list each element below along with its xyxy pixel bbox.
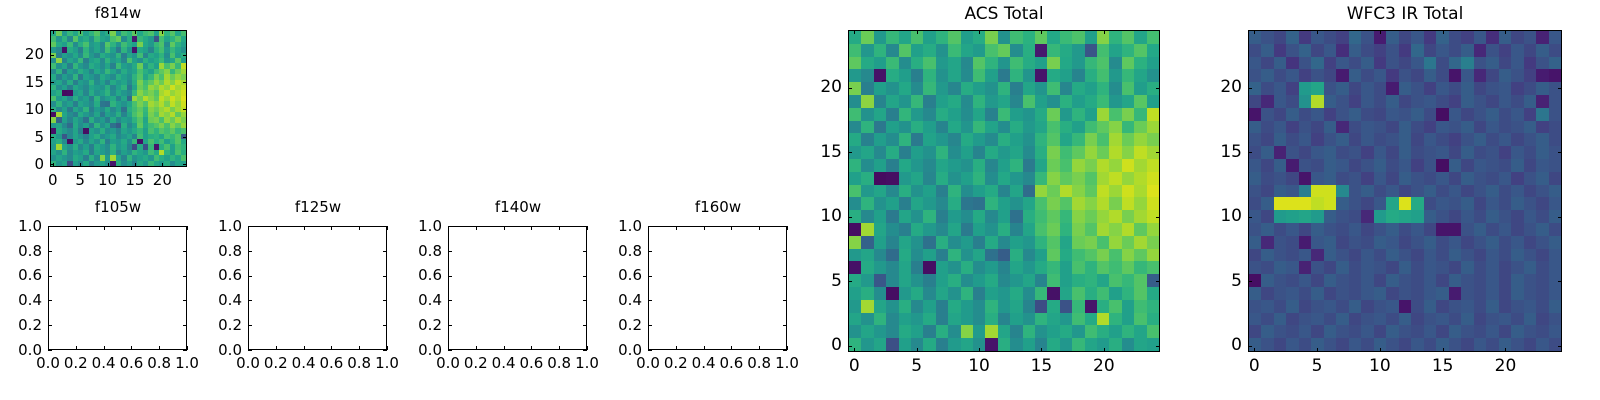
- heatmap-cell: [1349, 249, 1361, 262]
- heatmap-cell: [1436, 82, 1448, 95]
- y-tick-mark: [183, 82, 187, 83]
- heatmap-cell: [1134, 69, 1146, 82]
- heatmap-cell: [1134, 82, 1146, 95]
- heatmap-cell: [1386, 185, 1398, 198]
- axes-f160w[interactable]: [648, 226, 787, 350]
- axes-f140w[interactable]: [448, 226, 587, 350]
- heatmap-cell: [911, 300, 923, 313]
- heatmap-cell: [1524, 159, 1536, 172]
- heatmap-cell: [961, 249, 973, 262]
- heatmap-cell: [1324, 300, 1336, 313]
- heatmap-cell: [961, 313, 973, 326]
- heatmap-cell: [1060, 325, 1072, 338]
- heatmap-cell: [1336, 44, 1348, 57]
- heatmap-cell: [1549, 133, 1561, 146]
- heatmap-cell: [961, 133, 973, 146]
- heatmap-cell: [1122, 313, 1134, 326]
- heatmap-cell: [1499, 44, 1511, 57]
- y-tick-mark: [848, 217, 852, 218]
- heatmap-cell: [1311, 159, 1323, 172]
- heatmap-cell: [923, 313, 935, 326]
- heatmap-cell: [1047, 121, 1059, 134]
- panel-f160w: f160w 0.00.20.40.60.81.0 0.00.20.40.60.8…: [600, 190, 810, 400]
- heatmap-cell: [1261, 261, 1273, 274]
- heatmap-cell: [936, 159, 948, 172]
- y-tick-mark: [248, 325, 252, 326]
- heatmap-cell: [1010, 146, 1022, 159]
- y-tick-mark: [1248, 217, 1252, 218]
- heatmap-cell: [1486, 236, 1498, 249]
- heatmap-cell: [1286, 31, 1298, 44]
- heatmap-cell: [911, 121, 923, 134]
- heatmap-cell: [1085, 108, 1097, 121]
- heatmap-cell: [1336, 313, 1348, 326]
- heatmap-cell: [849, 185, 861, 198]
- heatmap-cell: [1286, 261, 1298, 274]
- heatmap-cell: [1035, 287, 1047, 300]
- axes-f125w[interactable]: [248, 226, 387, 350]
- heatmap-cell: [886, 338, 898, 351]
- heatmap-cell: [1349, 121, 1361, 134]
- heatmap-cell: [1461, 57, 1473, 70]
- x-tick-label: 5: [887, 356, 947, 376]
- axes-f105w[interactable]: [48, 226, 187, 350]
- heatmap-cell: [1511, 249, 1523, 262]
- heatmap-cell: [1474, 159, 1486, 172]
- heatmap-cell: [1511, 236, 1523, 249]
- heatmap-cell: [998, 57, 1010, 70]
- heatmap-cell: [1072, 57, 1084, 70]
- heatmap-cell: [1147, 108, 1159, 121]
- heatmap-cell: [886, 223, 898, 236]
- heatmap-cell: [1361, 146, 1373, 159]
- heatmap-cell: [1324, 197, 1336, 210]
- heatmap-cell: [1010, 313, 1022, 326]
- heatmap-cell: [1047, 108, 1059, 121]
- heatmap-cell: [1461, 300, 1473, 313]
- heatmap-cell: [1349, 236, 1361, 249]
- heatmap-cell: [911, 108, 923, 121]
- heatmap-cell: [923, 95, 935, 108]
- heatmap-cell: [1424, 133, 1436, 146]
- heatmap-cell: [861, 197, 873, 210]
- heatmap-cell: [1511, 57, 1523, 70]
- heatmap-cell: [1274, 287, 1286, 300]
- heatmap-cell: [1249, 172, 1261, 185]
- x-tick-mark: [1505, 348, 1506, 352]
- heatmap-cell: [1424, 172, 1436, 185]
- heatmap-cell: [1536, 95, 1548, 108]
- y-tick-mark: [48, 325, 52, 326]
- heatmap-cell: [1311, 146, 1323, 159]
- x-tick-mark: [531, 226, 532, 230]
- heatmap-cell: [1134, 172, 1146, 185]
- heatmap-cell: [1324, 236, 1336, 249]
- heatmap-cell: [1336, 146, 1348, 159]
- heatmap-cell: [899, 95, 911, 108]
- heatmap-cell: [849, 172, 861, 185]
- heatmap-cell: [1449, 82, 1461, 95]
- heatmap-grid: [849, 31, 1159, 351]
- heatmap-cell: [948, 133, 960, 146]
- x-tick-label: 10: [1350, 356, 1410, 376]
- heatmap-cell: [1524, 313, 1536, 326]
- heatmap-cell: [1299, 57, 1311, 70]
- heatmap-cell: [1047, 185, 1059, 198]
- heatmap-cell: [961, 185, 973, 198]
- y-tick-label: 0.4: [384, 291, 442, 309]
- heatmap-cell: [1249, 261, 1261, 274]
- heatmap-cell: [911, 287, 923, 300]
- heatmap-cell: [961, 159, 973, 172]
- y-tick-mark: [648, 276, 652, 277]
- heatmap-cell: [1299, 338, 1311, 351]
- heatmap-cell: [1311, 57, 1323, 70]
- heatmap-cell: [1436, 95, 1448, 108]
- heatmap-cell: [1399, 159, 1411, 172]
- heatmap-cell: [1499, 172, 1511, 185]
- heatmap-cell: [1249, 95, 1261, 108]
- y-tick-mark: [448, 300, 452, 301]
- heatmap-cell: [1511, 82, 1523, 95]
- heatmap-cell: [1274, 133, 1286, 146]
- heatmap-cell: [923, 197, 935, 210]
- x-tick-mark: [559, 226, 560, 230]
- heatmap-cell: [1511, 31, 1523, 44]
- heatmap-cell: [1047, 249, 1059, 262]
- heatmap-cell: [1060, 274, 1072, 287]
- heatmap-cell: [948, 108, 960, 121]
- heatmap-cell: [899, 287, 911, 300]
- y-tick-label: 0.8: [0, 242, 42, 260]
- heatmap-cell: [1147, 197, 1159, 210]
- heatmap-cell: [1109, 185, 1121, 198]
- heatmap-cell: [1374, 82, 1386, 95]
- heatmap-cell: [1474, 133, 1486, 146]
- heatmap-cell: [961, 223, 973, 236]
- heatmap-cell: [1536, 57, 1548, 70]
- heatmap-cell: [1035, 133, 1047, 146]
- heatmap-cell: [1361, 223, 1373, 236]
- x-tick-mark: [759, 346, 760, 350]
- heatmap-cell: [1436, 274, 1448, 287]
- heatmap-cell: [1060, 236, 1072, 249]
- heatmap-cell: [1109, 300, 1121, 313]
- heatmap-cell: [1286, 69, 1298, 82]
- heatmap-cell: [1349, 261, 1361, 274]
- heatmap-cell: [1324, 121, 1336, 134]
- heatmap-cell: [1349, 325, 1361, 338]
- heatmap-cell: [1274, 185, 1286, 198]
- heatmap-cell: [1299, 300, 1311, 313]
- heatmap-cell: [1299, 69, 1311, 82]
- heatmap-cell: [1461, 44, 1473, 57]
- heatmap-cell: [1072, 325, 1084, 338]
- heatmap-cell: [1122, 108, 1134, 121]
- heatmap-cell: [1010, 210, 1022, 223]
- heatmap-cell: [1085, 300, 1097, 313]
- heatmap-cell: [1424, 338, 1436, 351]
- heatmap-cell: [1047, 223, 1059, 236]
- heatmap-cell: [985, 159, 997, 172]
- heatmap-cell: [973, 159, 985, 172]
- y-tick-mark: [1558, 152, 1562, 153]
- heatmap-cell: [1474, 300, 1486, 313]
- heatmap-cell: [1374, 121, 1386, 134]
- heatmap-cell: [1424, 31, 1436, 44]
- heatmap-cell: [1085, 69, 1097, 82]
- heatmap-cell: [1399, 44, 1411, 57]
- heatmap-cell: [1474, 197, 1486, 210]
- heatmap-cell: [1097, 325, 1109, 338]
- heatmap-cell: [1386, 133, 1398, 146]
- heatmap-cell: [1336, 223, 1348, 236]
- heatmap-cell: [1411, 223, 1423, 236]
- heatmap-cell: [973, 121, 985, 134]
- x-tick-mark: [104, 226, 105, 230]
- heatmap-cell: [1411, 172, 1423, 185]
- heatmap-cell: [1474, 338, 1486, 351]
- heatmap-cell: [1374, 108, 1386, 121]
- x-tick-mark: [917, 30, 918, 34]
- panel-f125w: f125w 0.00.20.40.60.81.0 0.00.20.40.60.8…: [200, 190, 410, 400]
- heatmap-cell: [1311, 325, 1323, 338]
- heatmap-cell: [1109, 31, 1121, 44]
- heatmap-cell: [1499, 236, 1511, 249]
- heatmap-cell: [1449, 57, 1461, 70]
- x-tick-mark: [1380, 30, 1381, 34]
- heatmap-cell: [1536, 197, 1548, 210]
- heatmap-cell: [1023, 146, 1035, 159]
- heatmap-cell: [973, 82, 985, 95]
- heatmap-cell: [1274, 121, 1286, 134]
- heatmap-cell: [1549, 261, 1561, 274]
- figure-canvas: f814w 05101520 05101520 f105w 0.00.20.40…: [0, 0, 1600, 400]
- heatmap-cell: [1072, 261, 1084, 274]
- heatmap-cell: [1147, 121, 1159, 134]
- heatmap-cell: [923, 210, 935, 223]
- heatmap-cell: [1361, 31, 1373, 44]
- heatmap-cell: [1399, 57, 1411, 70]
- heatmap-cell: [1023, 57, 1035, 70]
- heatmap-cell: [874, 108, 886, 121]
- heatmap-cell: [874, 57, 886, 70]
- heatmap-cell: [936, 95, 948, 108]
- heatmap-cell: [899, 313, 911, 326]
- heatmap-cell: [1549, 236, 1561, 249]
- heatmap-cell: [1461, 261, 1473, 274]
- heatmap-cell: [961, 108, 973, 121]
- axes-wfc3-ir-total[interactable]: [1248, 30, 1562, 352]
- y-tick-mark: [248, 350, 252, 351]
- heatmap-cell: [1134, 274, 1146, 287]
- heatmap-cell: [1047, 44, 1059, 57]
- heatmap-cell: [985, 325, 997, 338]
- heatmap-cell: [1536, 223, 1548, 236]
- heatmap-cell: [1261, 236, 1273, 249]
- heatmap-cell: [1023, 108, 1035, 121]
- heatmap-cell: [1411, 95, 1423, 108]
- heatmap-cell: [1436, 172, 1448, 185]
- heatmap-cell: [1524, 121, 1536, 134]
- y-tick-mark: [848, 281, 852, 282]
- heatmap-cell: [1324, 185, 1336, 198]
- y-tick-mark: [783, 251, 787, 252]
- heatmap-cell: [1047, 172, 1059, 185]
- axes-f814w[interactable]: [50, 30, 187, 167]
- x-tick-mark: [1443, 30, 1444, 34]
- heatmap-cell: [936, 57, 948, 70]
- heatmap-cell: [1436, 223, 1448, 236]
- heatmap-cell: [1122, 133, 1134, 146]
- heatmap-cell: [1499, 274, 1511, 287]
- heatmap-cell: [1524, 146, 1536, 159]
- x-tick-mark: [854, 30, 855, 34]
- heatmap-cell: [1109, 159, 1121, 172]
- heatmap-cell: [936, 146, 948, 159]
- x-tick-mark: [162, 163, 163, 167]
- heatmap-cell: [1060, 95, 1072, 108]
- panel-f140w: f140w 0.00.20.40.60.81.0 0.00.20.40.60.8…: [400, 190, 610, 400]
- heatmap-cell: [1109, 44, 1121, 57]
- heatmap-cell: [899, 210, 911, 223]
- heatmap-cell: [948, 121, 960, 134]
- heatmap-cell: [1249, 69, 1261, 82]
- heatmap-cell: [1122, 69, 1134, 82]
- heatmap-cell: [1085, 223, 1097, 236]
- heatmap-cell: [911, 249, 923, 262]
- heatmap-cell: [1147, 223, 1159, 236]
- heatmap-cell: [1122, 44, 1134, 57]
- heatmap-cell: [886, 31, 898, 44]
- heatmap-cell: [1499, 121, 1511, 134]
- heatmap-cell: [1499, 82, 1511, 95]
- heatmap-cell: [1411, 236, 1423, 249]
- heatmap-cell: [1286, 185, 1298, 198]
- heatmap-cell: [1274, 172, 1286, 185]
- heatmap-cell: [1474, 121, 1486, 134]
- x-tick-mark: [159, 226, 160, 230]
- heatmap-cell: [1261, 95, 1273, 108]
- heatmap-cell: [886, 172, 898, 185]
- y-tick-label: 0.8: [184, 242, 242, 260]
- heatmap-cell: [874, 300, 886, 313]
- axes-acs-total[interactable]: [848, 30, 1160, 352]
- y-tick-mark: [1558, 217, 1562, 218]
- heatmap-cell: [886, 325, 898, 338]
- y-tick-mark: [183, 164, 187, 165]
- heatmap-cell: [1311, 249, 1323, 262]
- heatmap-cell: [1499, 57, 1511, 70]
- heatmap-cell: [1072, 197, 1084, 210]
- heatmap-cell: [1411, 185, 1423, 198]
- heatmap-cell: [1549, 185, 1561, 198]
- heatmap-cell: [1274, 223, 1286, 236]
- heatmap-cell: [1374, 172, 1386, 185]
- heatmap-cell: [1536, 236, 1548, 249]
- heatmap-cell: [1147, 313, 1159, 326]
- heatmap-cell: [1047, 287, 1059, 300]
- panel-title-f814w: f814w: [0, 4, 236, 22]
- heatmap-cell: [998, 82, 1010, 95]
- heatmap-cell: [1261, 185, 1273, 198]
- heatmap-cell: [1311, 121, 1323, 134]
- heatmap-cell: [1424, 95, 1436, 108]
- heatmap-cell: [948, 31, 960, 44]
- heatmap-cell: [1411, 313, 1423, 326]
- heatmap-cell: [1349, 223, 1361, 236]
- heatmap-cell: [936, 338, 948, 351]
- heatmap-cell: [1299, 133, 1311, 146]
- heatmap-cell: [1411, 274, 1423, 287]
- heatmap-cell: [961, 274, 973, 287]
- heatmap-cell: [936, 274, 948, 287]
- y-tick-label: 0.8: [584, 242, 642, 260]
- heatmap-cell: [1010, 300, 1022, 313]
- heatmap-cell: [849, 197, 861, 210]
- heatmap-cell: [1249, 223, 1261, 236]
- y-tick-label: 1.0: [184, 217, 242, 235]
- heatmap-cell: [861, 325, 873, 338]
- heatmap-cell: [1511, 261, 1523, 274]
- x-tick-label: 20: [132, 171, 192, 189]
- heatmap-cell: [861, 82, 873, 95]
- heatmap-cell: [1499, 108, 1511, 121]
- heatmap-cell: [874, 197, 886, 210]
- y-tick-label: 0.2: [184, 316, 242, 334]
- heatmap-cell: [849, 223, 861, 236]
- heatmap-cell: [1097, 236, 1109, 249]
- y-tick-mark: [1156, 88, 1160, 89]
- heatmap-cell: [1311, 223, 1323, 236]
- heatmap-cell: [1122, 31, 1134, 44]
- heatmap-cell: [948, 236, 960, 249]
- heatmap-cell: [985, 44, 997, 57]
- heatmap-cell: [1524, 249, 1536, 262]
- heatmap-cell: [1286, 236, 1298, 249]
- heatmap-cell: [985, 185, 997, 198]
- heatmap-cell: [1511, 185, 1523, 198]
- heatmap-cell: [1424, 300, 1436, 313]
- heatmap-cell: [1122, 172, 1134, 185]
- heatmap-cell: [1134, 210, 1146, 223]
- heatmap-cell: [961, 261, 973, 274]
- y-tick-mark: [248, 251, 252, 252]
- heatmap-cell: [1461, 82, 1473, 95]
- heatmap-cell: [1060, 313, 1072, 326]
- heatmap-cell: [1424, 249, 1436, 262]
- y-tick-mark: [50, 137, 54, 138]
- heatmap-cell: [899, 223, 911, 236]
- heatmap-cell: [1010, 249, 1022, 262]
- heatmap-cell: [1311, 108, 1323, 121]
- heatmap-cell: [1361, 300, 1373, 313]
- heatmap-cell: [923, 133, 935, 146]
- heatmap-cell: [1524, 172, 1536, 185]
- y-tick-label: 20: [0, 45, 44, 63]
- heatmap-cell: [1524, 261, 1536, 274]
- heatmap-cell: [1035, 121, 1047, 134]
- heatmap-cell: [1386, 121, 1398, 134]
- heatmap-cell: [1449, 300, 1461, 313]
- heatmap-cell: [1486, 274, 1498, 287]
- heatmap-cell: [1511, 108, 1523, 121]
- y-tick-mark: [248, 300, 252, 301]
- heatmap-cell: [886, 313, 898, 326]
- heatmap-cell: [1361, 210, 1373, 223]
- heatmap-cell: [985, 172, 997, 185]
- heatmap-cell: [1261, 31, 1273, 44]
